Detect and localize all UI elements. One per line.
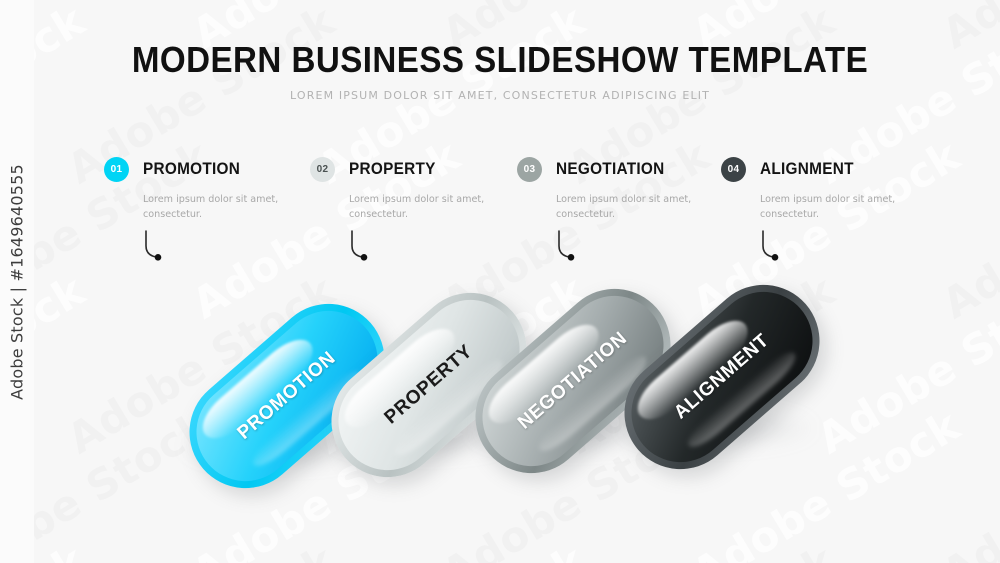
page-title: MODERN BUSINESS SLIDESHOW TEMPLATE	[40, 40, 960, 80]
stock-watermark-rail: Adobe Stock | #1649640555	[0, 0, 34, 563]
step-head: 02PROPERTY	[310, 157, 515, 182]
step-title: PROPERTY	[349, 160, 436, 179]
pill-alignment[interactable]: ALIGNMENT	[611, 321, 833, 433]
slide-header: MODERN BUSINESS SLIDESHOW TEMPLATE LOREM…	[0, 40, 1000, 102]
step-description: Lorem ipsum dolor sit amet, consectetur.	[349, 193, 499, 222]
step-number-badge: 03	[517, 157, 542, 182]
step-description: Lorem ipsum dolor sit amet, consectetur.	[556, 193, 706, 222]
step-head: 03NEGOTIATION	[517, 157, 722, 182]
step-item-02[interactable]: 02PROPERTYLorem ipsum dolor sit amet, co…	[310, 157, 515, 222]
step-number-label: 04	[728, 164, 740, 175]
step-title: NEGOTIATION	[556, 160, 665, 179]
step-number-badge: 01	[104, 157, 129, 182]
step-head: 01PROMOTION	[104, 157, 309, 182]
steps-list: 01PROMOTIONLorem ipsum dolor sit amet, c…	[104, 157, 956, 277]
step-item-01[interactable]: 01PROMOTIONLorem ipsum dolor sit amet, c…	[104, 157, 309, 222]
connector-line-icon	[556, 229, 592, 265]
step-description: Lorem ipsum dolor sit amet, consectetur.	[143, 193, 293, 222]
step-item-03[interactable]: 03NEGOTIATIONLorem ipsum dolor sit amet,…	[517, 157, 722, 222]
step-description: Lorem ipsum dolor sit amet, consectetur.	[760, 193, 910, 222]
step-number-label: 01	[111, 164, 123, 175]
page-subtitle: LOREM IPSUM DOLOR SIT AMET, CONSECTETUR …	[0, 89, 1000, 102]
connector-line-icon	[349, 229, 385, 265]
connector-line-icon	[760, 229, 796, 265]
step-number-badge: 04	[721, 157, 746, 182]
step-head: 04ALIGNMENT	[721, 157, 926, 182]
step-item-04[interactable]: 04ALIGNMENTLorem ipsum dolor sit amet, c…	[721, 157, 926, 222]
connector-line-icon	[143, 229, 179, 265]
stock-id-label: Adobe Stock | #1649640555	[8, 164, 27, 400]
slide-canvas: Adobe StockAdobe StockAdobe StockAdobe S…	[0, 0, 1000, 563]
step-number-badge: 02	[310, 157, 335, 182]
step-number-label: 02	[317, 164, 329, 175]
step-title: ALIGNMENT	[760, 160, 854, 179]
step-title: PROMOTION	[143, 160, 240, 179]
step-number-label: 03	[524, 164, 536, 175]
